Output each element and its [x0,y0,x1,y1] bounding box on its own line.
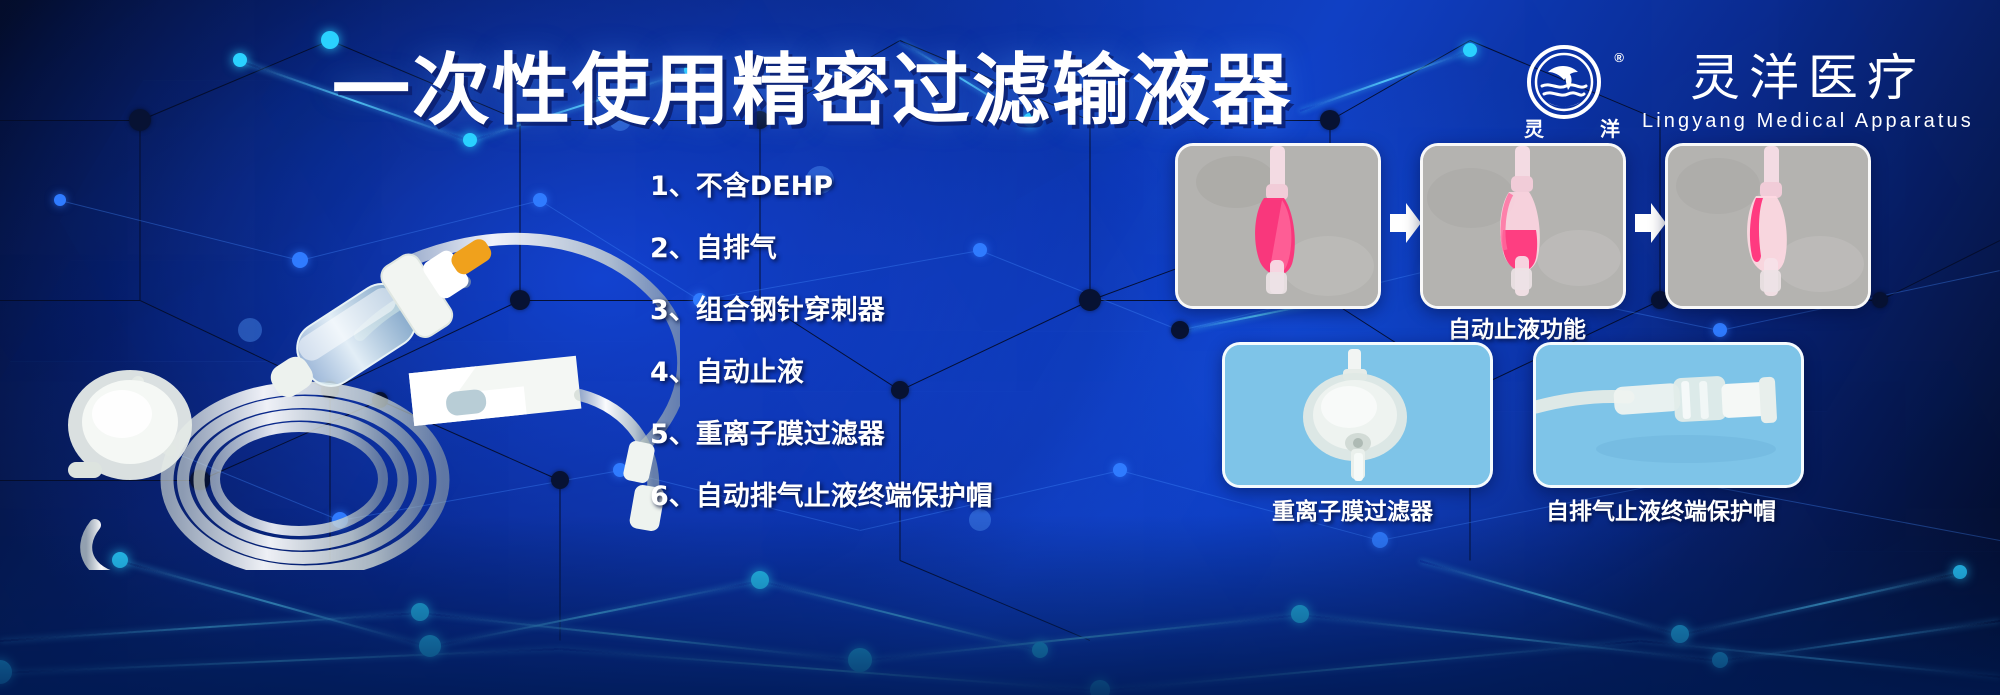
caption-heavy-ion-membrane-filter: 重离子膜过滤器 [1272,492,1433,526]
brand-name-block: 灵洋医疗 Lingyang Medical Apparatus [1642,50,1974,133]
network-link [980,250,1180,331]
network-node [1463,43,1477,57]
network-node [1079,289,1101,311]
brand-logo-block: ® 灵 洋 灵洋医疗 Lingyang Medical Apparatus [1518,42,1974,140]
feature-item: 3、组合钢针穿刺器 [650,296,993,326]
logo-char-yang: 洋 [1600,113,1620,142]
product-banner: 一次性使用精密过滤输液器 ® 灵 洋 灵洋医疗 Lingyang Medical… [0,0,2000,695]
network-link [1090,121,1091,301]
caption-auto-stop-liquid: 自动止液功能 [1448,310,1586,344]
panel-self-venting-end-cap [1533,342,1804,488]
network-node [1713,323,1727,337]
feature-item: 4、自动止液 [650,358,993,388]
network-link [1330,40,1470,121]
network-node [129,109,151,131]
panel-drip-chamber-half [1420,143,1626,309]
feature-item: 6、自动排气止液终端保护帽 [650,482,993,512]
product-photo-infusion-set [60,150,680,570]
network-link [1880,240,2000,301]
panel-heavy-ion-membrane-filter [1222,342,1493,488]
logo-char-pair: 灵 洋 [1518,113,1626,142]
network-link [1300,50,1471,112]
lingyang-circle-logo-icon: ® 灵 洋 [1518,42,1626,140]
network-node [1113,463,1127,477]
right-arrow-icon [1388,200,1422,246]
right-arrow-icon [1633,200,1667,246]
feature-list: 1、不含DEHP 2、自排气 3、组合钢针穿刺器 4、自动止液 5、重离子膜过滤… [650,172,993,544]
feature-item: 5、重离子膜过滤器 [650,420,993,450]
network-link [0,120,140,121]
caption-self-venting-end-cap: 自排气止液终端保护帽 [1546,492,1776,526]
brand-name-en: Lingyang Medical Apparatus [1642,110,1974,133]
network-node [1872,292,1888,308]
logo-char-ling: 灵 [1524,113,1544,142]
panel-drip-chamber-full [1175,143,1381,309]
feature-item: 1、不含DEHP [650,172,993,202]
network-node [233,53,247,67]
network-node [1320,110,1340,130]
panel-drip-chamber-stopped [1665,143,1871,309]
page-title: 一次性使用精密过滤输液器 [332,48,1292,134]
brand-name-cn: 灵洋医疗 [1690,50,1926,106]
feature-item: 2、自排气 [650,234,993,264]
network-link [140,40,330,121]
registered-trademark-icon: ® [1614,50,1624,65]
network-node [1171,321,1189,339]
